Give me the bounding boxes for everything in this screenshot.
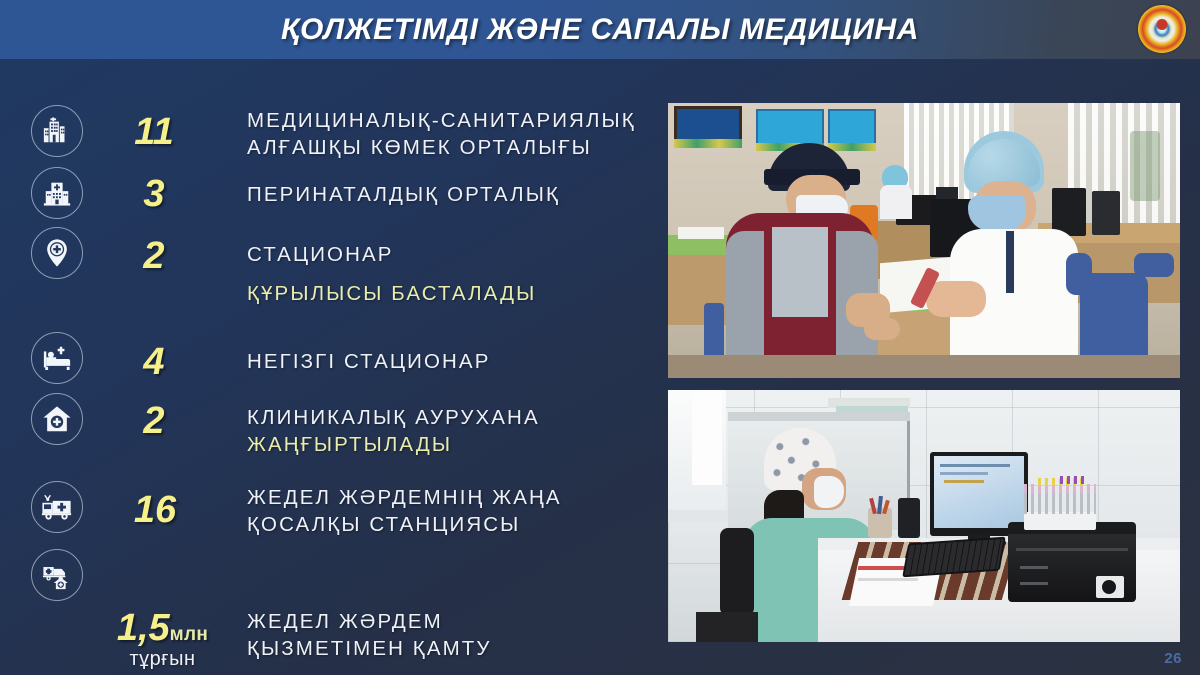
stat-value-5: 2 <box>118 400 190 443</box>
stat-label-3-line-2: ҚҰРЫЛЫСЫ БАСТАЛАДЫ <box>247 280 536 307</box>
stat-value-7-number: 1,5 <box>117 607 170 649</box>
stat-label-7-line-2: ҚЫЗМЕТІМЕН ҚАМТУ <box>247 635 492 662</box>
stat-label-6-line-1: ЖЕДЕЛ ЖӘРДЕМНІҢ ЖАҢА <box>247 484 562 511</box>
clinic-building-icon <box>31 167 83 219</box>
medical-house-icon <box>31 393 83 445</box>
slide-header: ҚОЛЖЕТІМДІ ЖӘНЕ САПАЛЫ МЕДИЦИНА <box>0 0 1200 59</box>
state-emblem-icon <box>1138 5 1186 53</box>
hospital-bed-icon <box>31 332 83 384</box>
stat-value-3: 2 <box>118 235 190 278</box>
photo-clinic-consultation <box>668 103 1180 378</box>
stat-label-5-line-2: ЖАҢҒЫРТЫЛАДЫ <box>247 431 452 458</box>
stat-value-7-unit: млн <box>170 624 209 645</box>
ambulance-home-icon <box>31 549 83 601</box>
stat-label-5-line-1: КЛИНИКАЛЫҚ АУРУХАНА <box>247 404 540 431</box>
page-title: ҚОЛЖЕТІМДІ ЖӘНЕ САПАЛЫ МЕДИЦИНА <box>281 13 919 47</box>
stat-list: 11 МЕДИЦИНАЛЫҚ-САНИТАРИЯЛЫҚ АЛҒАШҚЫ КӨМЕ… <box>0 59 668 675</box>
stat-label-1-line-1: МЕДИЦИНАЛЫҚ-САНИТАРИЯЛЫҚ <box>247 107 636 134</box>
stat-value-7: 1,5млн тұрғын <box>95 607 230 671</box>
stat-value-4: 4 <box>118 341 190 384</box>
stat-value-1: 11 <box>118 111 190 154</box>
photo-lab-technician <box>668 390 1180 642</box>
page-number: 26 <box>1164 650 1182 667</box>
stat-value-2: 3 <box>118 173 190 216</box>
ambulance-icon <box>31 481 83 533</box>
stat-label-2-line-1: ПЕРИНАТАЛДЫҚ ОРТАЛЫҚ <box>247 181 560 208</box>
stat-label-4-line-1: НЕГІЗГІ СТАЦИОНАР <box>247 348 490 375</box>
stat-label-6-line-2: ҚОСАЛҚЫ СТАНЦИЯСЫ <box>247 511 520 538</box>
slide-root: ҚОЛЖЕТІМДІ ЖӘНЕ САПАЛЫ МЕДИЦИНА <box>0 0 1200 675</box>
stat-label-3-line-1: СТАЦИОНАР <box>247 241 394 268</box>
stat-label-7-line-1: ЖЕДЕЛ ЖӘРДЕМ <box>247 608 443 635</box>
stat-value-6: 16 <box>110 489 200 532</box>
map-pin-medical-icon <box>31 227 83 279</box>
stat-value-7-unit2: тұрғын <box>95 648 230 671</box>
stat-label-1-line-2: АЛҒАШҚЫ КӨМЕК ОРТАЛЫҒЫ <box>247 134 592 161</box>
hospital-building-icon <box>31 105 83 157</box>
